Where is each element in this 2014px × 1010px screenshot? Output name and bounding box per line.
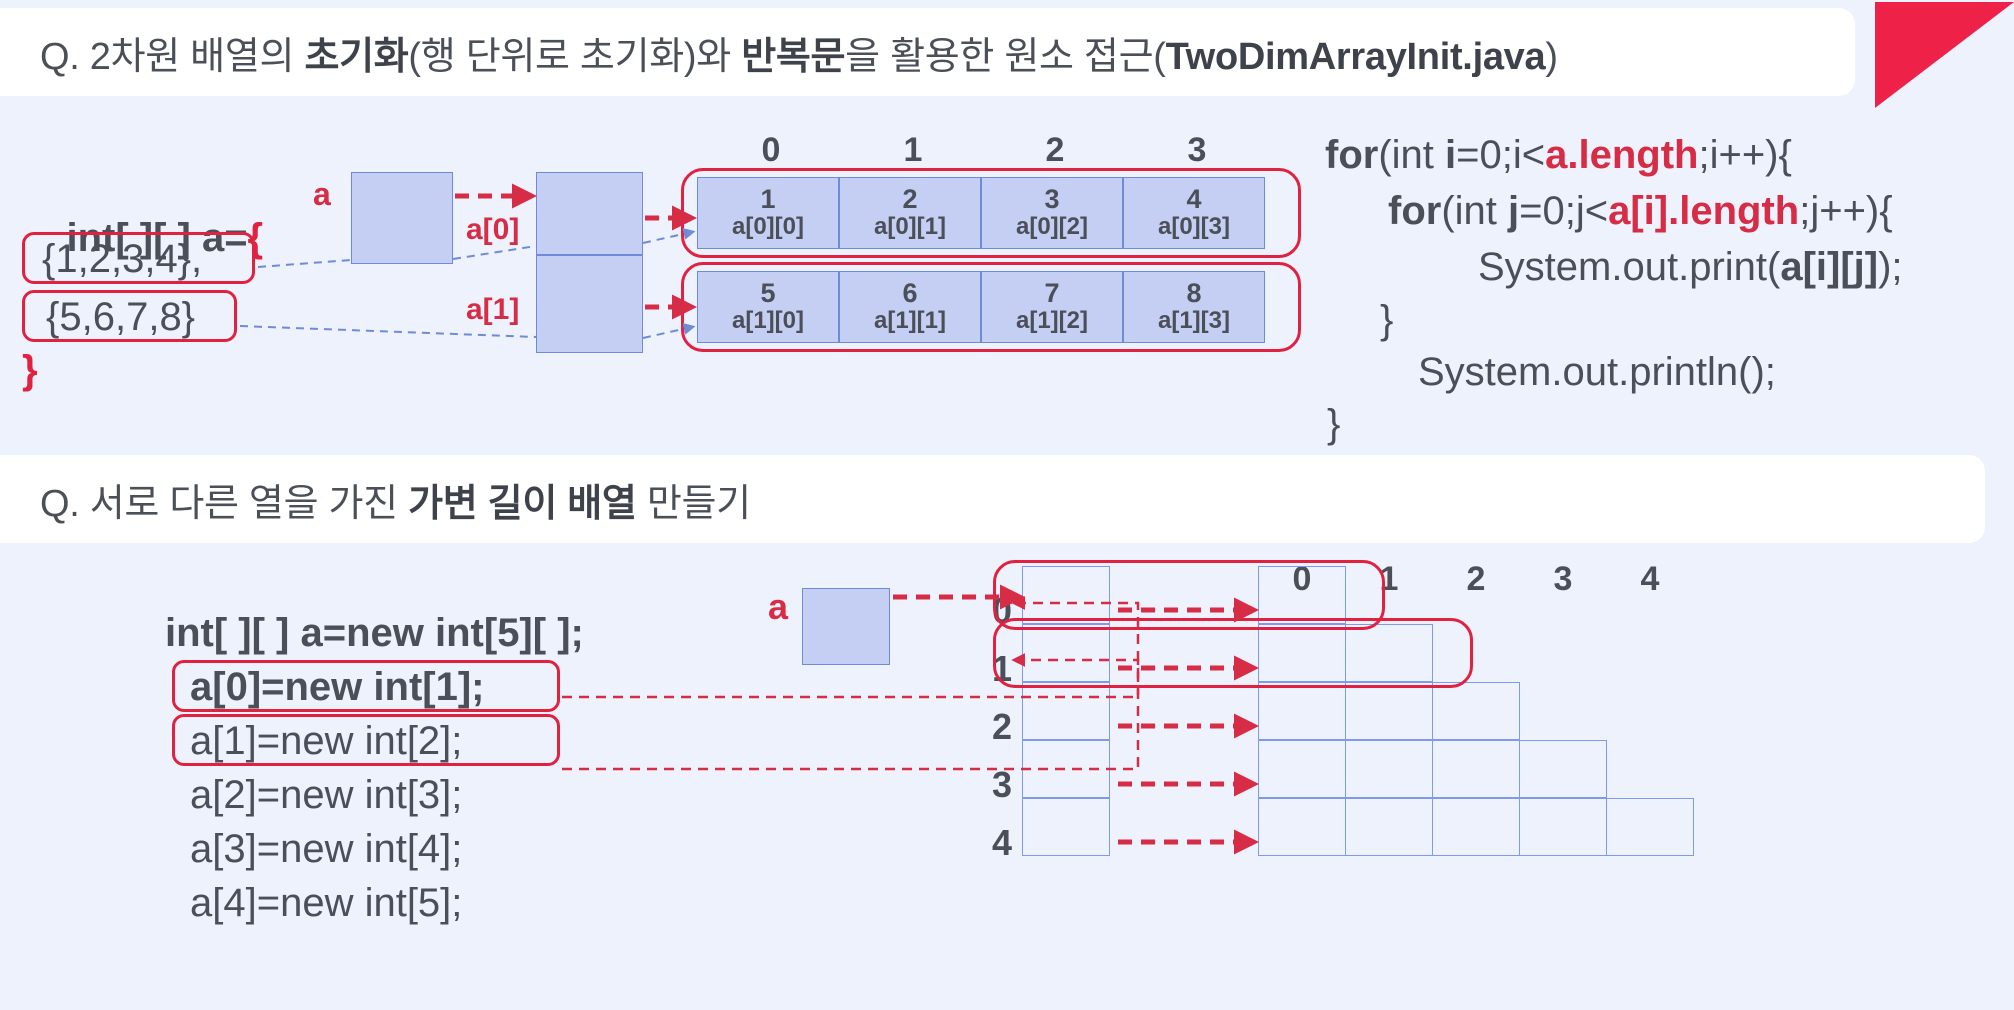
- cell-1-1: 6 a[1][1]: [839, 271, 981, 343]
- jagged-col-header-3: 3: [1519, 560, 1607, 599]
- jagged-cell-2-0: [1258, 682, 1346, 740]
- jagged-row-label-3: 3: [985, 764, 1019, 806]
- variable-box-a: [351, 172, 453, 264]
- col-header-1: 1: [842, 131, 984, 170]
- code-line-6: }: [1327, 404, 1340, 444]
- connector-row0-to-abox: [258, 260, 351, 267]
- col-header-3: 3: [1126, 131, 1268, 170]
- decl-close-brace: }: [22, 350, 38, 390]
- decl-row1: {5,6,7,8}: [46, 297, 195, 337]
- jagged-cell-4-1: [1345, 798, 1433, 856]
- jagged-cell-4-0: [1258, 798, 1346, 856]
- cell-1-3: 8 a[1][3]: [1123, 271, 1265, 343]
- jagged-cell-4-4: [1606, 798, 1694, 856]
- row-ref-box-0: [536, 172, 643, 255]
- jagged-cell-3-0: [1258, 740, 1346, 798]
- section1-title: Q. 2차원 배열의 초기화(행 단위로 초기화)와 반복문을 활용한 원소 접…: [40, 25, 1558, 80]
- row-ref-box-1: [536, 255, 643, 353]
- col-header-2: 2: [984, 131, 1126, 170]
- cell-1-2: 7 a[1][2]: [981, 271, 1123, 343]
- jagged-ref-cell-3: [1022, 740, 1110, 798]
- jagged-ref-cell-2: [1022, 682, 1110, 740]
- jagged-code-line-3: a[2]=new int[3];: [190, 775, 462, 815]
- section2-title: Q. 서로 다른 열을 가진 가변 길이 배열 만들기: [40, 472, 751, 527]
- jagged-cell-4-3: [1519, 798, 1607, 856]
- jagged-code-line-0: int[ ][ ] a=new int[5][ ];: [165, 613, 584, 653]
- jagged-ref-label-a: a: [768, 586, 788, 628]
- jagged-code-line-1: a[0]=new int[1];: [190, 667, 484, 707]
- code-line-4: }: [1380, 300, 1393, 340]
- red-corner-triangle: [1870, 0, 2014, 110]
- row-ref-label-0: a[0]: [466, 213, 519, 247]
- cell-0-1: 2 a[0][1]: [839, 177, 981, 249]
- jagged-col-header-4: 4: [1606, 560, 1694, 599]
- jagged-cell-2-2: [1432, 682, 1520, 740]
- section1-title-bar: Q. 2차원 배열의 초기화(행 단위로 초기화)와 반복문을 활용한 원소 접…: [0, 8, 1855, 96]
- jagged-cell-4-2: [1432, 798, 1520, 856]
- slide-canvas: Q. 2차원 배열의 초기화(행 단위로 초기화)와 반복문을 활용한 원소 접…: [0, 0, 2014, 1010]
- jagged-row-label-4: 4: [985, 822, 1019, 864]
- col-header-0: 0: [700, 131, 842, 170]
- jagged-ref-cell-4: [1022, 798, 1110, 856]
- ref-label-a: a: [313, 176, 331, 213]
- code-line-1: for(int i=0;i<a.length;i++){: [1325, 135, 1792, 175]
- row-ref-label-1: a[1]: [466, 293, 519, 327]
- jagged-cell-2-1: [1345, 682, 1433, 740]
- jagged-cell-3-3: [1519, 740, 1607, 798]
- cell-1-0: 5 a[1][0]: [697, 271, 839, 343]
- jagged-code-line-2: a[1]=new int[2];: [190, 721, 462, 761]
- decl-row0: {1,2,3,4},: [42, 239, 202, 279]
- code-line-2: for(int j=0;j<a[i].length;j++){: [1388, 191, 1893, 231]
- jagged-cell-3-2: [1432, 740, 1520, 798]
- jagged-row1-highlight: [993, 618, 1473, 688]
- jagged-variable-box-a: [802, 588, 890, 665]
- connector-abox-to-rowref0: [453, 246, 536, 259]
- jagged-row-label-2: 2: [985, 706, 1019, 748]
- jagged-col-header-2: 2: [1432, 560, 1520, 599]
- cell-0-0: 1 a[0][0]: [697, 177, 839, 249]
- cell-0-3: 4 a[0][3]: [1123, 177, 1265, 249]
- code-line-5: System.out.println();: [1418, 352, 1776, 392]
- cell-0-2: 3 a[0][2]: [981, 177, 1123, 249]
- connector-row1-to-rowref1: [240, 326, 536, 337]
- jagged-code-line-5: a[4]=new int[5];: [190, 883, 462, 923]
- jagged-cell-3-1: [1345, 740, 1433, 798]
- jagged-code-line-4: a[3]=new int[4];: [190, 829, 462, 869]
- section2-title-bar: Q. 서로 다른 열을 가진 가변 길이 배열 만들기: [0, 455, 1985, 543]
- code-line-3: System.out.print(a[i][j]);: [1478, 247, 1903, 287]
